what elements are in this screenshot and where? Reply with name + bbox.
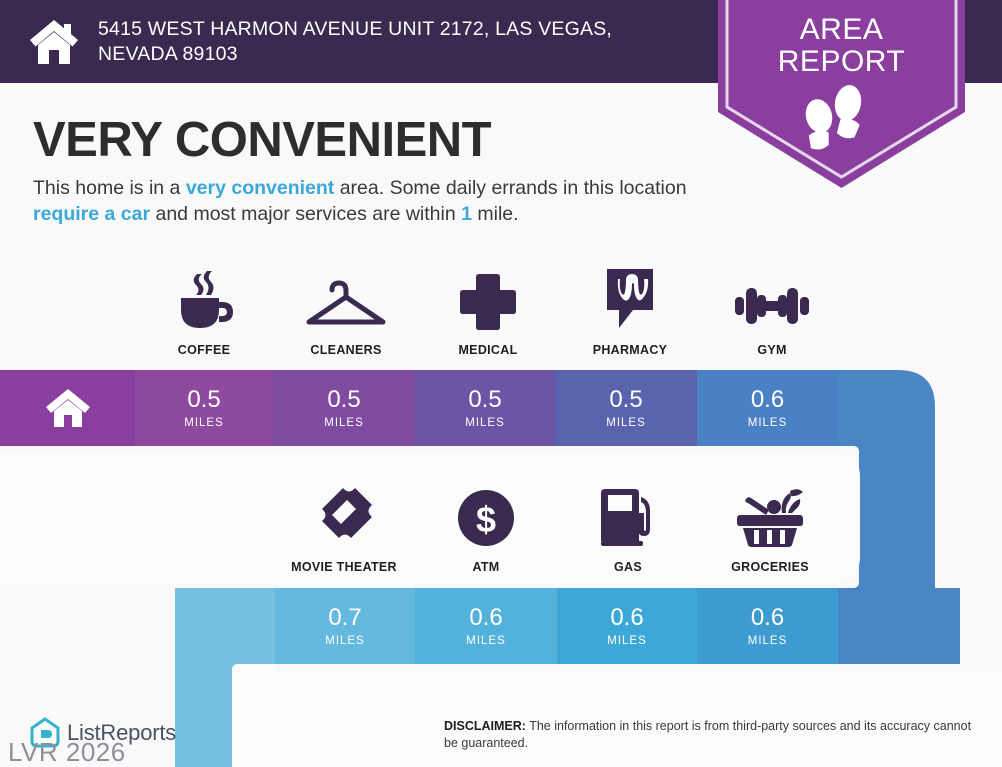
disclaimer: DISCLAIMER: The information in this repo… <box>444 718 984 753</box>
desc-highlight-3: 1 <box>461 203 472 225</box>
distance-unit: MILES <box>748 635 788 647</box>
band-home-marker <box>0 370 135 446</box>
distance-unit: MILES <box>607 635 647 647</box>
amenity-groceries: GROCERIES <box>699 485 841 574</box>
band-cell-medical: 0.5 MILES <box>415 370 555 446</box>
amenity-gym: GYM <box>701 268 843 357</box>
distance-value: 0.5 <box>327 388 360 412</box>
grocery-basket-icon <box>732 485 808 547</box>
amenity-gas: GAS <box>557 485 699 574</box>
amenity-movie-theater: MOVIE THEATER <box>273 485 415 574</box>
amenity-icon-row-2: MOVIE THEATER $ ATM <box>273 485 841 574</box>
band-cell-gym: 0.6 MILES <box>697 370 838 446</box>
area-report-badge: AREA REPORT <box>718 0 965 188</box>
amenity-icon-row-1: COFFEE CLEANERS MEDICAL <box>133 268 843 357</box>
distance-unit: MILES <box>184 417 224 429</box>
amenity-label: ATM <box>472 560 499 574</box>
distance-unit: MILES <box>748 417 788 429</box>
distance-unit: MILES <box>325 635 365 647</box>
amenity-label: CLEANERS <box>310 343 381 357</box>
desc-highlight-2: require a car <box>33 203 150 225</box>
distance-value: 0.5 <box>468 388 501 412</box>
movie-ticket-icon <box>313 485 375 547</box>
walgreens-w-icon <box>604 268 656 330</box>
coffee-cup-icon <box>173 268 235 330</box>
desc-highlight-1: very convenient <box>186 177 334 199</box>
property-address: 5415 WEST HARMON AVENUE UNIT 2172, LAS V… <box>98 17 673 66</box>
amenity-coffee: COFFEE <box>133 268 275 357</box>
distance-unit: MILES <box>606 417 646 429</box>
distance-unit: MILES <box>324 417 364 429</box>
distance-value: 0.5 <box>187 388 220 412</box>
amenity-label: COFFEE <box>178 343 231 357</box>
clothes-hanger-icon <box>301 268 391 330</box>
distance-value: 0.7 <box>328 606 361 630</box>
desc-text-1: This home is in a <box>33 177 186 199</box>
badge-line-1: AREA <box>718 14 965 46</box>
desc-text-2: area. Some daily errands in this locatio… <box>334 177 686 199</box>
desc-text-4: mile. <box>472 203 519 225</box>
distance-value: 0.6 <box>610 606 643 630</box>
dollar-circle-icon: $ <box>457 485 515 547</box>
disclaimer-label: DISCLAIMER: <box>444 719 526 733</box>
amenity-label: GAS <box>614 560 642 574</box>
amenity-cleaners: CLEANERS <box>275 268 417 357</box>
band-cell-coffee: 0.5 MILES <box>135 370 273 446</box>
distance-value: 0.6 <box>751 606 784 630</box>
svg-text:$: $ <box>476 499 496 540</box>
band-lead-in <box>175 588 275 664</box>
watermark-text: LVR 2026 <box>8 737 126 767</box>
gas-pump-icon <box>597 485 659 547</box>
band-cell-pharmacy: 0.5 MILES <box>555 370 697 446</box>
amenity-atm: $ ATM <box>415 485 557 574</box>
dumbbell-icon <box>729 268 815 330</box>
page-title: VERY CONVENIENT <box>33 112 491 168</box>
badge-line-2: REPORT <box>718 46 965 78</box>
band-cell-gas: 0.6 MILES <box>557 588 697 664</box>
amenity-label: GROCERIES <box>731 560 809 574</box>
amenity-label: MOVIE THEATER <box>291 560 397 574</box>
house-icon <box>28 18 80 66</box>
distance-unit: MILES <box>466 635 506 647</box>
distance-band-row-2: 0.7 MILES 0.6 MILES 0.6 MILES 0.6 MILES <box>175 588 960 664</box>
badge-title: AREA REPORT <box>718 14 965 78</box>
distance-value: 0.6 <box>751 388 784 412</box>
amenity-pharmacy: PHARMACY <box>559 268 701 357</box>
band-cell-groceries: 0.6 MILES <box>697 588 838 664</box>
amenity-label: GYM <box>757 343 786 357</box>
distance-value: 0.5 <box>609 388 642 412</box>
band-cell-atm: 0.6 MILES <box>415 588 557 664</box>
summary-description: This home is in a very convenient area. … <box>33 176 705 228</box>
amenity-label: MEDICAL <box>458 343 517 357</box>
desc-text-3: and most major services are within <box>150 203 461 225</box>
band-cell-movie-theater: 0.7 MILES <box>275 588 415 664</box>
distance-band-row-1: 0.5 MILES 0.5 MILES 0.5 MILES 0.5 MILES … <box>0 370 960 446</box>
band-tail <box>838 588 960 664</box>
area-report-page: 5415 WEST HARMON AVENUE UNIT 2172, LAS V… <box>0 0 1002 767</box>
medical-cross-icon <box>459 268 517 330</box>
amenity-label: PHARMACY <box>593 343 668 357</box>
distance-unit: MILES <box>465 417 505 429</box>
distance-value: 0.6 <box>469 606 502 630</box>
band-cell-cleaners: 0.5 MILES <box>273 370 415 446</box>
amenity-medical: MEDICAL <box>417 268 559 357</box>
